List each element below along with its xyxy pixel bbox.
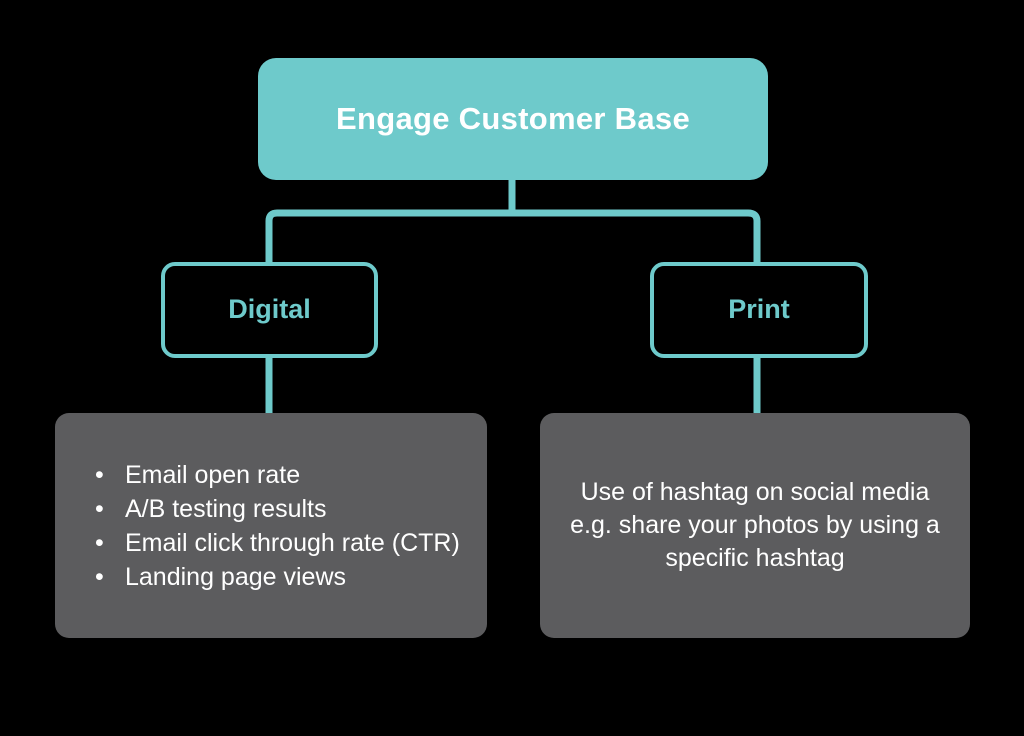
- node-detail-digital[interactable]: • Email open rate • A/B testing results …: [55, 413, 487, 638]
- bullet-icon: •: [95, 561, 104, 593]
- bullet-icon: •: [95, 527, 104, 559]
- node-branch-print[interactable]: Print: [650, 262, 868, 358]
- node-branch-print-label: Print: [728, 295, 790, 325]
- list-item-label: A/B testing results: [125, 495, 326, 523]
- list-item: • Email open rate: [77, 459, 469, 491]
- list-item: • A/B testing results: [77, 493, 469, 525]
- list-item-label: Email click through rate (CTR): [125, 529, 460, 557]
- bullet-icon: •: [95, 493, 104, 525]
- digital-metrics-list: • Email open rate • A/B testing results …: [77, 459, 469, 593]
- print-detail-text: Use of hashtag on social media e.g. shar…: [570, 476, 940, 575]
- diagram-canvas: Engage Customer Base Digital Print • Ema…: [0, 0, 1024, 736]
- list-item-label: Email open rate: [125, 461, 300, 489]
- node-root-label: Engage Customer Base: [336, 102, 690, 136]
- list-item-label: Landing page views: [125, 563, 346, 591]
- bullet-icon: •: [95, 459, 104, 491]
- node-root[interactable]: Engage Customer Base: [258, 58, 768, 180]
- connector-bus: [269, 213, 757, 262]
- list-item: • Landing page views: [77, 561, 469, 593]
- list-item: • Email click through rate (CTR): [77, 527, 469, 559]
- node-branch-digital[interactable]: Digital: [161, 262, 378, 358]
- node-branch-digital-label: Digital: [228, 295, 311, 325]
- node-detail-print[interactable]: Use of hashtag on social media e.g. shar…: [540, 413, 970, 638]
